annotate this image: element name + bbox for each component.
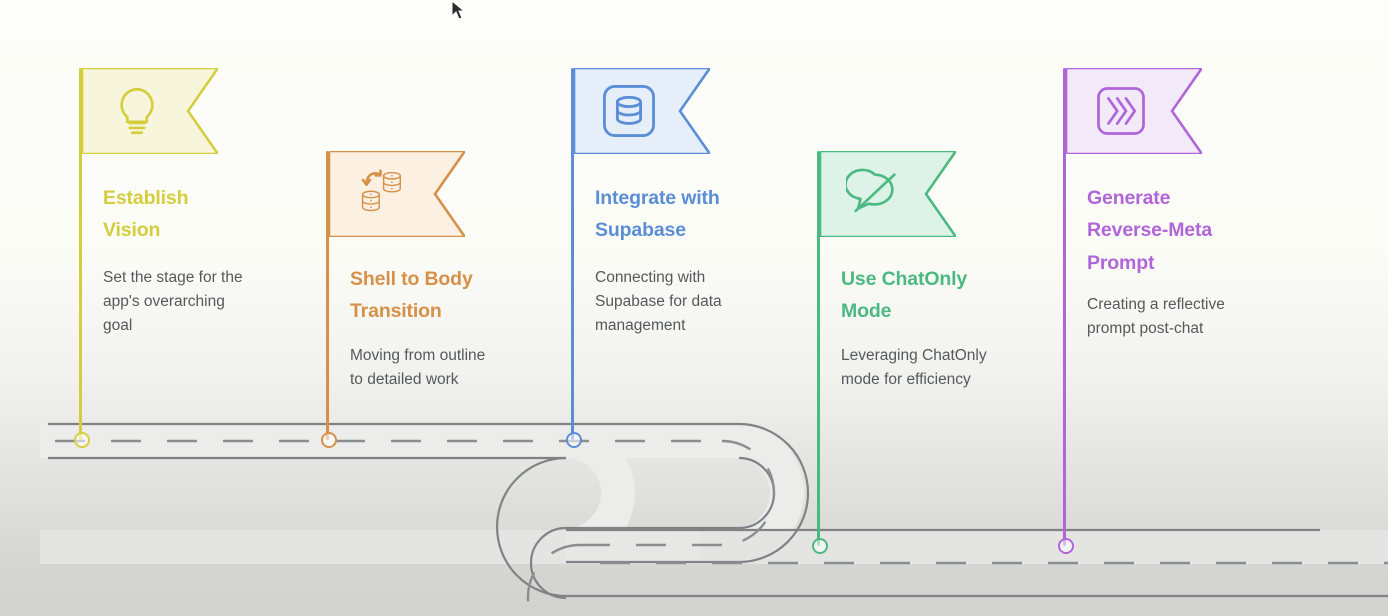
milestone-description: Creating a reflective prompt post-chat [1087, 293, 1292, 341]
lightbulb-icon [108, 82, 166, 140]
milestone-marker[interactable] [812, 538, 828, 554]
roadmap-diagram: Establish VisionSet the stage for the ap… [0, 0, 1388, 616]
milestone-flag[interactable] [820, 151, 956, 237]
data-transfer-icon [356, 166, 412, 222]
milestone-description: Leveraging ChatOnly mode for efficiency [841, 344, 1046, 392]
milestone-flag[interactable] [329, 151, 465, 237]
lightbulb-icon [82, 68, 192, 154]
milestone-marker[interactable] [1058, 538, 1074, 554]
data-transfer-icon [329, 151, 439, 237]
milestone-title: Integrate with Supabase [595, 182, 795, 247]
chat-off-icon [846, 165, 904, 223]
milestone-marker[interactable] [566, 432, 582, 448]
milestone-flag[interactable] [1066, 68, 1202, 154]
milestone-flag[interactable] [82, 68, 218, 154]
milestone-description: Set the stage for the app's overarching … [103, 266, 308, 338]
chat-off-icon [820, 151, 930, 237]
milestone-flag[interactable] [574, 68, 710, 154]
milestone-description: Moving from outline to detailed work [350, 344, 555, 392]
milestone-title: Shell to Body Transition [350, 263, 550, 328]
milestone-title: Generate Reverse-Meta Prompt [1087, 182, 1287, 279]
milestone-title: Use ChatOnly Mode [841, 263, 1041, 328]
database-icon [574, 68, 684, 154]
fast-forward-icon [1066, 68, 1176, 154]
milestone-title: Establish Vision [103, 182, 303, 247]
milestone-marker[interactable] [74, 432, 90, 448]
milestone-description: Connecting with Supabase for data manage… [595, 266, 800, 338]
fast-forward-icon [1091, 81, 1151, 141]
milestone-marker[interactable] [321, 432, 337, 448]
database-icon [598, 80, 660, 142]
